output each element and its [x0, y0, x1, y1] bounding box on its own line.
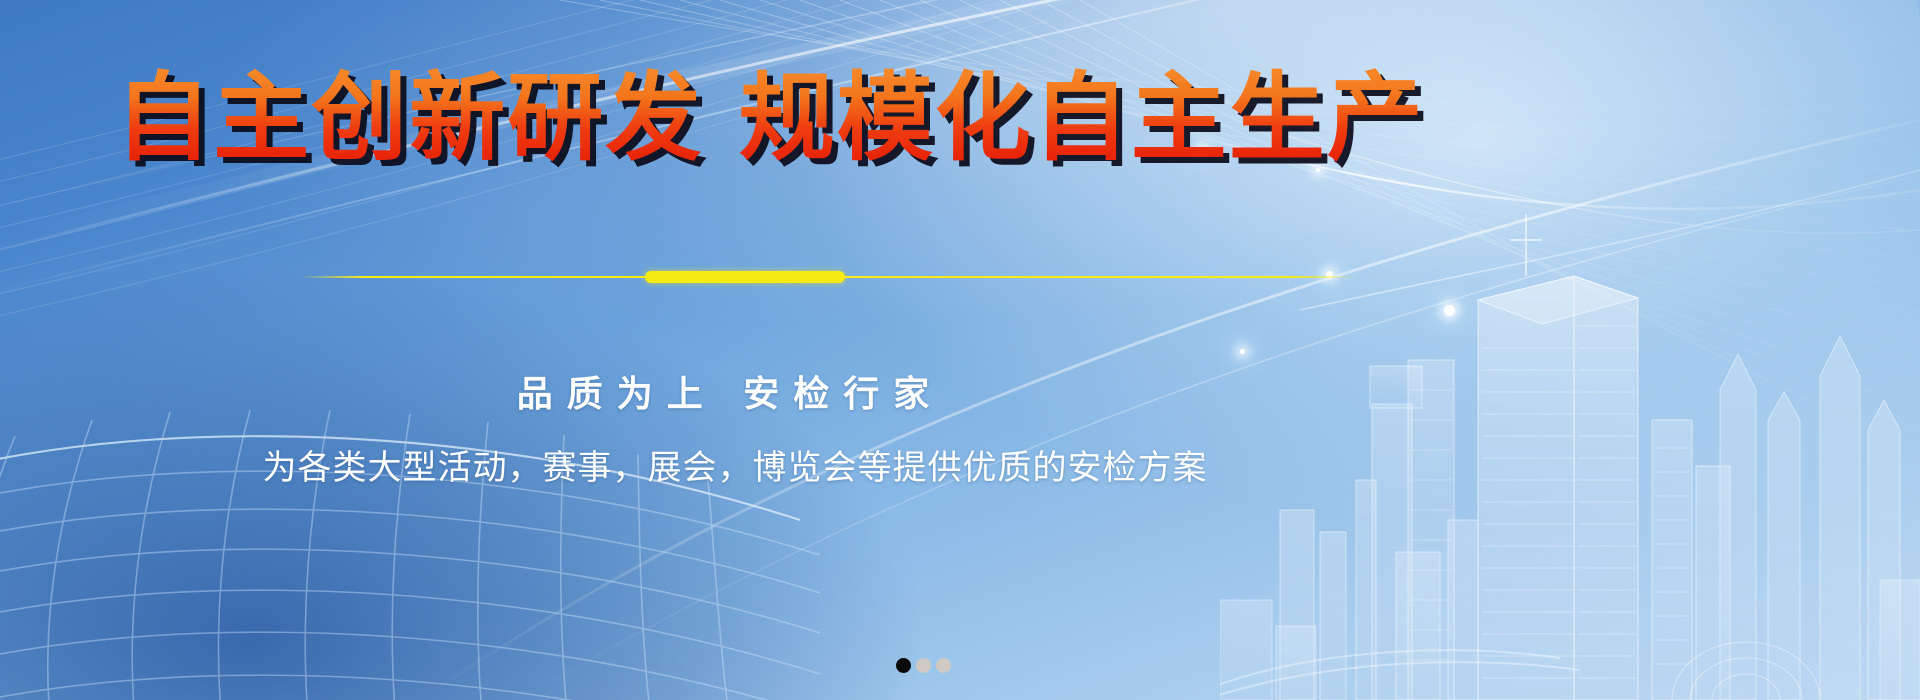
banner-subtitle-main: 品质为上 安检行家	[0, 365, 1460, 417]
light-sparkle-icon	[1240, 349, 1245, 354]
carousel-dot-1[interactable]	[896, 658, 911, 673]
banner-headline: 自主创新研发 规模化自主生产	[0, 68, 1540, 169]
banner-subtitle-secondary: 为各类大型活动，赛事，展会，博览会等提供优质的安检方案	[0, 440, 1470, 489]
light-sparkle-icon	[1444, 305, 1455, 316]
carousel-dot-2[interactable]	[916, 658, 931, 673]
divider-accent-bar	[645, 271, 845, 283]
carousel-dot-3[interactable]	[936, 658, 951, 673]
decorative-divider	[300, 270, 1355, 284]
carousel-pagination[interactable]	[896, 658, 951, 673]
hero-banner: 自主创新研发 规模化自主生产 品质为上 安检行家 为各类大型活动，赛事，展会，博…	[0, 0, 1920, 700]
